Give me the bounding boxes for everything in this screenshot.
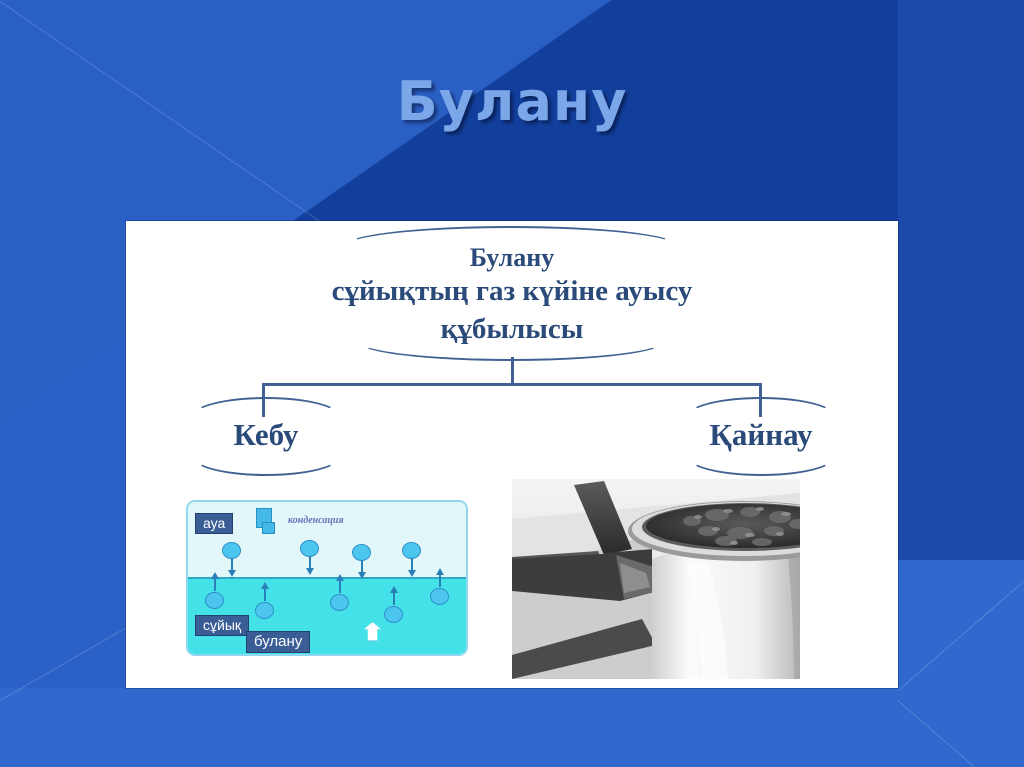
molecule-bubble bbox=[222, 542, 241, 559]
molecule-arrow-up-icon bbox=[439, 574, 441, 587]
branch-2-arc-bottom-decoration bbox=[686, 436, 836, 476]
boiling-pot-photo bbox=[512, 479, 800, 679]
slide-background: Булану Булану сұйықтың газ күйіне ауысу … bbox=[0, 0, 1024, 767]
root-arc-bottom-decoration bbox=[356, 321, 666, 361]
molecule-bubble bbox=[430, 588, 449, 605]
molecule-arrow-down-icon bbox=[231, 558, 233, 571]
slide-title: Булану bbox=[0, 70, 1024, 133]
molecule-bubble bbox=[205, 592, 224, 609]
air-tag-label: ауа bbox=[195, 513, 233, 534]
molecule-bubble bbox=[352, 544, 371, 561]
condensation-label: конденсация bbox=[288, 515, 344, 526]
molecule-bubble bbox=[384, 606, 403, 623]
molecule-bubble bbox=[330, 594, 349, 611]
molecule-arrow-up-icon bbox=[214, 578, 216, 591]
connector-crossbar bbox=[262, 383, 762, 386]
evaporation-schematic-illustration: конденсация ауа сұйық булану bbox=[186, 500, 468, 656]
molecule-bubble bbox=[402, 542, 421, 559]
molecule-arrow-up-icon bbox=[264, 588, 266, 601]
content-card: Булану сұйықтың газ күйіне ауысу құбылыс… bbox=[126, 221, 898, 688]
molecule-arrow-down-icon bbox=[309, 556, 311, 569]
background-facet-bottom-strip bbox=[0, 688, 1024, 767]
evaporation-tag-label: булану bbox=[246, 631, 310, 653]
illustration-surface-line bbox=[188, 577, 466, 579]
molecule-arrow-down-icon bbox=[411, 558, 413, 571]
molecule-bubble bbox=[300, 540, 319, 557]
liquid-tag-label: сұйық bbox=[195, 615, 249, 636]
molecule-bubble bbox=[255, 602, 274, 619]
condensation-arrow-tip-icon bbox=[262, 522, 275, 534]
root-node-title: Булану bbox=[312, 243, 712, 273]
molecule-arrow-down-icon bbox=[361, 560, 363, 573]
molecule-arrow-up-icon bbox=[339, 580, 341, 593]
boiling-pot-illustration bbox=[512, 479, 800, 679]
branch-1-arc-bottom-decoration bbox=[191, 436, 341, 476]
connector-stem bbox=[511, 357, 514, 385]
root-node-definition-line1: сұйықтың газ күйіне ауысу bbox=[142, 275, 882, 308]
molecule-arrow-up-icon bbox=[393, 592, 395, 605]
